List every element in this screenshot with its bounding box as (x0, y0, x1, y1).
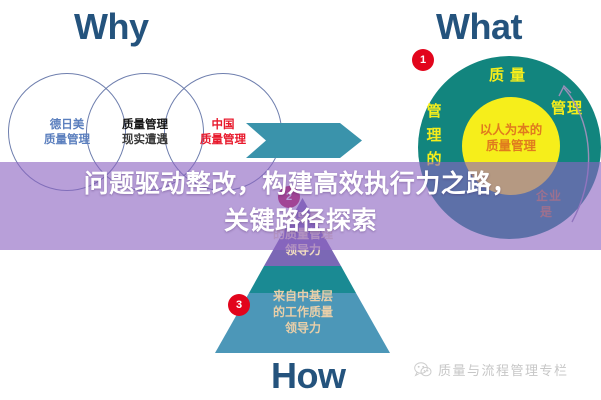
pyramid-bottom-line1: 来自中基层 (228, 288, 378, 304)
watermark: 质量与流程管理专栏 (414, 360, 569, 379)
overlay-title-line2: 关键路径探索 (0, 203, 601, 240)
what-center-line1: 以人为本的 (463, 122, 559, 138)
pyramid-bottom-tier-label: 来自中基层 的工作质量 领导力 (228, 288, 378, 336)
what-label-center: 以人为本的 质量管理 (463, 122, 559, 154)
what-label-top: 质量 (489, 67, 531, 84)
pyramid-bottom-line2: 的工作质量 (228, 304, 378, 320)
slide-canvas: 德日美 质量管理 质量管理 现实遭遇 中国 质量管理 质量 管理的 管理 以人为… (0, 0, 601, 400)
section-heading-how: How (271, 355, 346, 397)
pyramid-bottom-line3: 领导力 (228, 320, 378, 336)
watermark-text: 质量与流程管理专栏 (438, 360, 569, 379)
section-heading-what: What (436, 6, 522, 48)
step-badge-3: 3 (228, 294, 250, 316)
wechat-icon (414, 362, 432, 378)
section-heading-why: Why (74, 6, 149, 48)
step-badge-1: 1 (412, 49, 434, 71)
right-chevron-arrow (246, 123, 362, 158)
overlay-title: 问题驱动整改，构建高效执行力之路， 关键路径探索 (0, 166, 601, 240)
what-center-line2: 质量管理 (463, 138, 559, 154)
overlay-title-line1: 问题驱动整改，构建高效执行力之路， (0, 166, 601, 203)
